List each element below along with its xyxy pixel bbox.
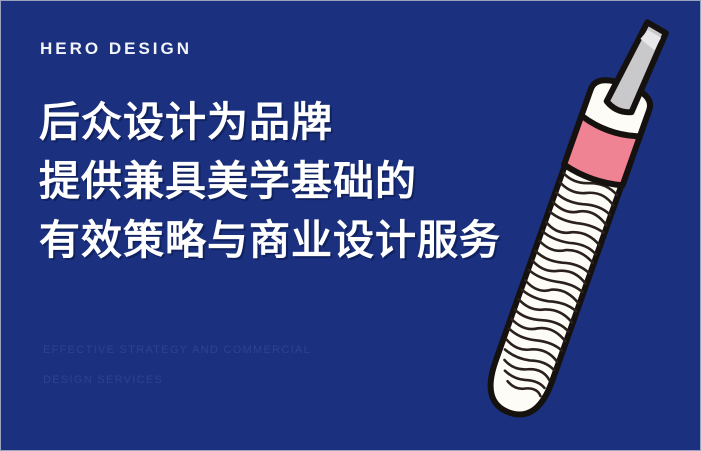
knife-blade [605, 19, 667, 117]
headline-line-1: 后众设计为品牌 [39, 93, 539, 152]
subtitle-block: EFFECTIVE STRATEGY AND COMMERCIAL DESIGN… [43, 335, 373, 395]
headline-line-2: 提供兼具美学基础的 [39, 152, 539, 211]
knife-ferrule-cap [580, 74, 655, 141]
knife-pink-collar [563, 114, 641, 189]
subtitle-line-2: DESIGN SERVICES [43, 365, 373, 395]
headline-block: 后众设计为品牌 提供兼具美学基础的 有效策略与商业设计服务 [39, 93, 539, 270]
knife-blade-highlight [638, 29, 662, 51]
brand-label: HERO DESIGN [40, 39, 192, 59]
subtitle-line-1: EFFECTIVE STRATEGY AND COMMERCIAL [43, 335, 373, 365]
headline-line-3: 有效策略与商业设计服务 [39, 211, 539, 270]
poster-canvas: HERO DESIGN 后众设计为品牌 提供兼具美学基础的 有效策略与商业设计服… [0, 0, 701, 451]
